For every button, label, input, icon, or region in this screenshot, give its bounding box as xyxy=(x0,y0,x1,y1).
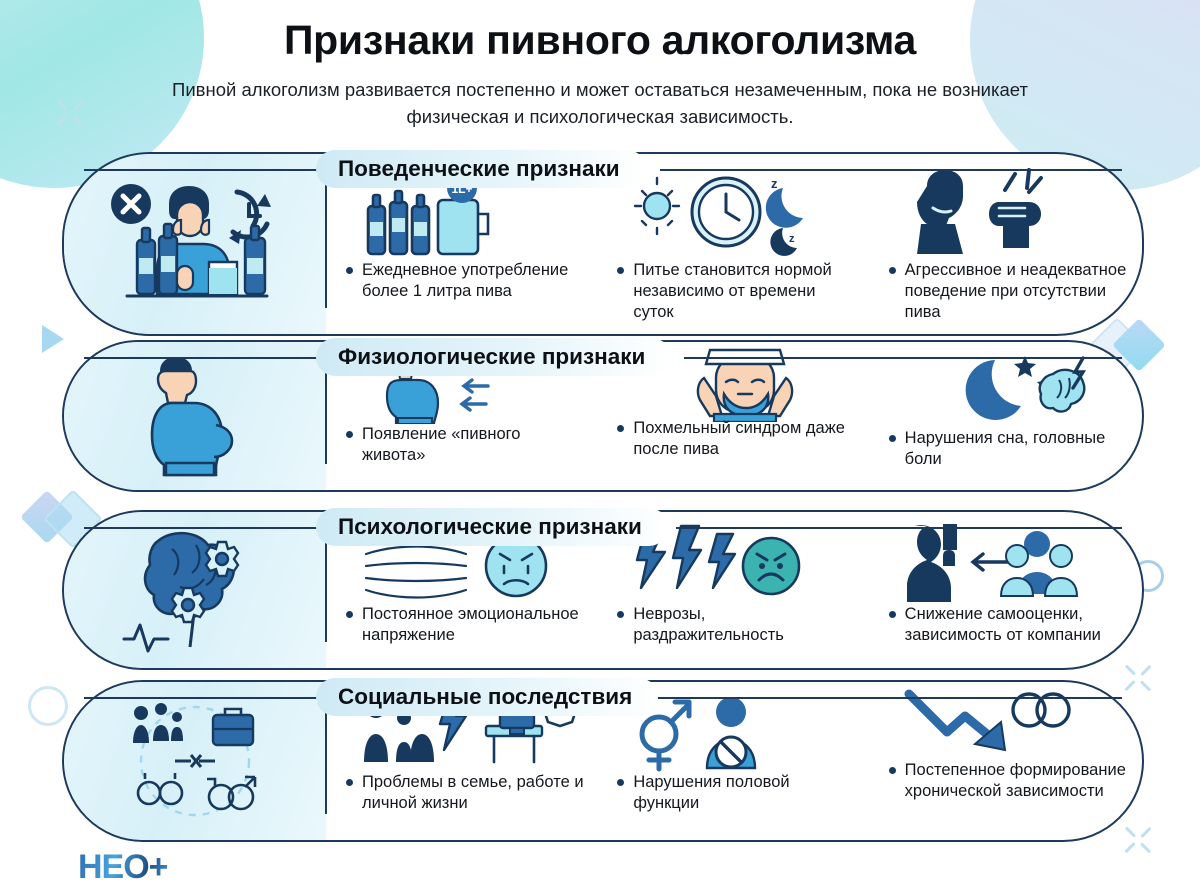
bullet-icon xyxy=(346,611,353,618)
section-rule-right-1 xyxy=(660,169,1122,171)
decorative-ring-small-left xyxy=(28,686,68,726)
bullet-icon xyxy=(617,611,624,618)
item-text-row: Появление «пивного живота» xyxy=(346,424,587,466)
item-text-row: Питье становится нормой независимо от вр… xyxy=(617,260,858,323)
bullet-icon xyxy=(617,425,624,432)
item-label: Агрессивное и неадекватное поведение при… xyxy=(905,260,1130,323)
thumbs-down-group-icon xyxy=(889,522,1130,604)
item-label: Питье становится нормой независимо от вр… xyxy=(633,260,858,323)
item-label: Проблемы в семье, работе и личной жизни xyxy=(362,772,587,814)
item-text-row: Постепенное формирование хронической зав… xyxy=(889,760,1130,802)
section-rule-right-4 xyxy=(652,697,1122,699)
item-text-row: Ежедневное употребление более 1 литра пи… xyxy=(346,260,587,302)
section-rule-left-4 xyxy=(84,697,318,699)
page-header: Признаки пивного алкоголизма Пивной алко… xyxy=(0,18,1200,131)
bullet-icon xyxy=(346,267,353,274)
item-text-row: Нарушения половой функции xyxy=(617,772,858,814)
item-s1-3: Агрессивное и неадекватное поведение при… xyxy=(871,154,1142,334)
section-rule-left-2 xyxy=(84,357,318,359)
item-text-row: Проблемы в семье, работе и личной жизни xyxy=(346,772,587,814)
item-label: Постоянное эмоциональное напряжение xyxy=(362,604,587,646)
section-rule-left-1 xyxy=(84,169,318,171)
section-title-physiological: Физиологические признаки xyxy=(316,338,671,376)
bullet-icon xyxy=(346,779,353,786)
bullet-icon xyxy=(889,267,896,274)
shouting-man-fist-icon xyxy=(889,168,1130,260)
brand-logo: НЕО+ xyxy=(78,848,168,887)
svg-text:z: z xyxy=(789,233,795,245)
bullet-icon xyxy=(889,767,896,774)
section-title-psychological: Психологические признаки xyxy=(316,508,668,546)
page-title: Признаки пивного алкоголизма xyxy=(0,18,1200,63)
item-label: Неврозы, раздражительность xyxy=(633,604,858,646)
section-rule-right-2 xyxy=(684,357,1122,359)
item-text-row: Нарушения сна, головные боли xyxy=(889,428,1130,470)
card-illustration-physiological xyxy=(64,342,326,490)
bullet-icon xyxy=(889,435,896,442)
item-label: Нарушения половой функции xyxy=(633,772,858,814)
item-s3-3: Снижение самооценки, зависимость от комп… xyxy=(871,512,1142,668)
item-text-row: Похмельный синдром даже после пива xyxy=(617,418,858,460)
section-title-social: Социальные последствия xyxy=(316,678,658,716)
bullet-icon xyxy=(346,431,353,438)
broken-chain-family-icon xyxy=(105,697,285,825)
svg-text:z: z xyxy=(771,176,778,191)
moon-stars-brain-icon xyxy=(889,350,1130,428)
item-text-row: Снижение самооценки, зависимость от комп… xyxy=(889,604,1130,646)
item-label: Постепенное формирование хронической зав… xyxy=(905,760,1130,802)
bullet-icon xyxy=(617,779,624,786)
section-title-behavioral: Поведенческие признаки xyxy=(316,150,646,188)
brain-gears-icon xyxy=(110,527,280,653)
item-label: Похмельный синдром даже после пива xyxy=(633,418,858,460)
clock-day-night-icon: z z xyxy=(617,168,858,260)
man-with-beer-bottles-icon xyxy=(97,178,293,310)
card-illustration-social xyxy=(64,682,326,840)
section-rule-left-3 xyxy=(84,527,318,529)
bullet-icon xyxy=(617,267,624,274)
item-label: Ежедневное употребление более 1 литра пи… xyxy=(362,260,587,302)
section-rule-right-3 xyxy=(676,527,1122,529)
item-s4-3: Постепенное формирование хронической зав… xyxy=(871,682,1142,840)
page-subtitle: Пивной алкоголизм развивается постепенно… xyxy=(130,77,1070,131)
item-label: Нарушения сна, головные боли xyxy=(905,428,1130,470)
bullet-icon xyxy=(889,611,896,618)
decorative-triangle-left xyxy=(42,325,64,353)
beer-belly-profile-icon xyxy=(120,355,270,477)
item-text-row: Постоянное эмоциональное напряжение xyxy=(346,604,587,646)
item-label: Снижение самооценки, зависимость от комп… xyxy=(905,604,1130,646)
item-text-row: Неврозы, раздражительность xyxy=(617,604,858,646)
item-s2-3: Нарушения сна, головные боли xyxy=(871,342,1142,490)
item-text-row: Агрессивное и неадекватное поведение при… xyxy=(889,260,1130,323)
card-illustration-psychological xyxy=(64,512,326,668)
item-label: Появление «пивного живота» xyxy=(362,424,587,466)
card-illustration-behavioral xyxy=(64,154,326,334)
